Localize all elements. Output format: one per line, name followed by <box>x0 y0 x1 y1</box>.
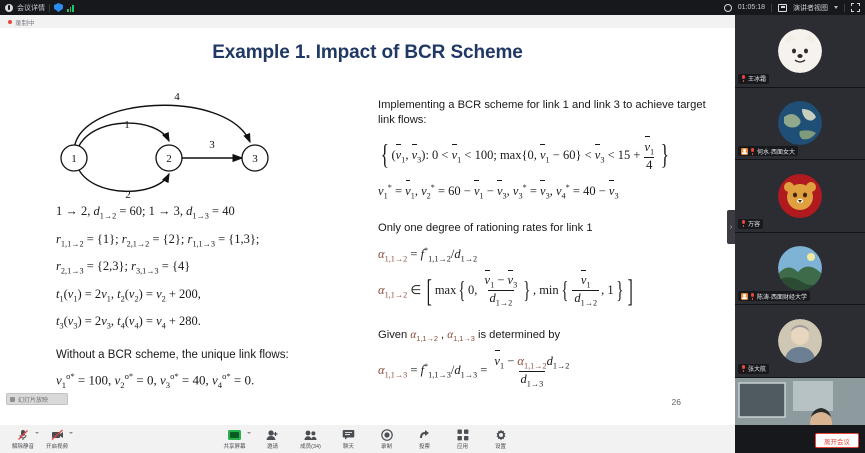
mic-muted-icon <box>741 75 746 82</box>
participant-name-bar: 陈涛·西面财经大学 <box>738 291 810 301</box>
host-icon <box>741 148 748 155</box>
network-diagram: 4 1 2 3 1 2 3 <box>52 86 342 204</box>
top-bar: 会议详情 01:05:18 演讲者视图 <box>0 0 865 15</box>
poll-icon <box>418 429 431 441</box>
participant-tile[interactable]: 何水·西面女大 <box>735 88 865 161</box>
participant-name-bar: 张大航 <box>738 364 769 374</box>
info-icon[interactable] <box>5 4 13 12</box>
landscape-avatar <box>778 246 822 290</box>
right-content-column: Implementing a BCR scheme for link 1 and… <box>378 98 723 389</box>
clock-icon <box>724 4 732 12</box>
meeting-timer: 01:05:18 <box>738 4 765 11</box>
divider <box>844 4 845 12</box>
svg-text:1: 1 <box>124 119 130 131</box>
shared-slide: Example 1. Impact of BCR Scheme 4 1 2 <box>0 28 735 425</box>
svg-text:3: 3 <box>209 139 215 151</box>
record-label: 录制 <box>381 442 392 450</box>
left-sentence: Without a BCR scheme, the unique link fl… <box>56 349 366 361</box>
shield-icon[interactable] <box>54 3 63 12</box>
participant-name-bar: 王冰霜 <box>738 74 769 84</box>
slideshow-label: 幻灯片放映 <box>18 395 48 404</box>
svg-text:2: 2 <box>125 189 131 201</box>
poll-label: 投票 <box>419 442 430 450</box>
toolbar-center-group: 共享屏幕 邀请 <box>0 429 735 450</box>
participant-tile[interactable]: 王冰霜 <box>735 15 865 88</box>
chevron-down-icon[interactable] <box>247 432 251 434</box>
poll-button[interactable]: 投票 <box>414 429 436 450</box>
participant-name-bar: 何水·西面女大 <box>738 146 798 156</box>
participant-name: 张大航 <box>748 364 766 373</box>
tiger-avatar <box>778 174 822 218</box>
chat-button[interactable]: 聊天 <box>338 429 360 450</box>
equation-cost-2: t3(v3) = 2v3, t4(v4) = v4 + 280. <box>56 314 366 331</box>
mic-muted-icon <box>741 365 746 372</box>
divider <box>49 4 50 12</box>
participant-tile[interactable]: 万容 <box>735 160 865 233</box>
view-mode-icon[interactable] <box>778 4 787 12</box>
equation-base-flows: v1o* = 100, v2o* = 0, v3o* = 40, v4o* = … <box>56 371 366 390</box>
svg-text:3: 3 <box>252 153 258 165</box>
right-sentence-1: Implementing a BCR scheme for link 1 and… <box>378 98 723 128</box>
host-icon <box>741 293 748 300</box>
view-mode-label[interactable]: 演讲者视图 <box>793 3 828 13</box>
equation-feasible-set: { (v1, v3): 0 < v1 < 100; max{0, v1 − 60… <box>378 140 723 172</box>
participants-label: 成员(34) <box>300 442 321 450</box>
bottom-toolbar: 解除静音 开启视频 共享屏幕 <box>0 425 735 453</box>
participant-name: 陈涛·西面财经大学 <box>757 292 807 301</box>
mic-muted-icon <box>741 220 746 227</box>
mic-muted-icon <box>750 293 755 300</box>
rail-collapse-button[interactable]: › <box>727 210 735 244</box>
share-screen-label: 共享屏幕 <box>223 442 245 450</box>
leave-meeting-button[interactable]: 离开会议 <box>815 433 859 448</box>
person-avatar <box>778 319 822 363</box>
participant-name: 何水·西面女大 <box>757 147 795 156</box>
zoom-meeting-window: 会议详情 01:05:18 演讲者视图 录制中 Example 1. Impac… <box>0 0 865 453</box>
participant-name-bar: 万容 <box>738 219 763 229</box>
recording-dot-icon <box>8 20 12 24</box>
meeting-details-label[interactable]: 会议详情 <box>17 3 45 13</box>
equation-demands: 1 → 2, d1→2 = 60; 1 → 3, d1→3 = 40 <box>56 204 366 221</box>
record-button[interactable]: 录制 <box>376 429 398 450</box>
equation-routes-2: r2,1→3 = {2,3}; r3,1→3 = {4} <box>56 259 366 276</box>
share-screen-button[interactable]: 共享屏幕 <box>223 429 245 450</box>
svg-text:4: 4 <box>174 91 180 103</box>
apps-label: 应用 <box>457 442 468 450</box>
slideshow-icon <box>10 397 15 402</box>
page-title: Example 1. Impact of BCR Scheme <box>0 42 735 64</box>
settings-button[interactable]: 设置 <box>490 429 512 450</box>
signal-bars-icon[interactable] <box>67 4 74 12</box>
slideshow-nav-chip[interactable]: 幻灯片放映 <box>6 393 68 405</box>
meeting-info-group[interactable]: 会议详情 <box>5 3 74 13</box>
invite-label: 邀请 <box>267 442 278 450</box>
equation-target-flows: v1* = v1, v2* = 60 − v1 − v3, v3* = v3, … <box>378 183 723 201</box>
apps-icon <box>456 429 469 441</box>
equation-alpha-range: α1,1→2 ∈ [ max{ 0, v1 − v3d1→2 } , min{ … <box>378 273 723 307</box>
divider <box>771 4 772 12</box>
recording-status-bar: 录制中 <box>0 15 735 28</box>
participant-rail: › 王冰霜 <box>735 15 865 453</box>
participants-button[interactable]: 成员(34) <box>300 429 322 450</box>
record-icon <box>380 429 393 441</box>
left-content-column: 1 → 2, d1→2 = 60; 1 → 3, d1→3 = 40 r1,1→… <box>56 204 366 400</box>
mic-muted-icon <box>750 148 755 155</box>
slide-page-number: 26 <box>672 397 681 407</box>
chevron-down-icon[interactable] <box>834 6 838 9</box>
chat-icon <box>342 429 355 441</box>
equation-cost-1: t1(v1) = 2v1, t2(v2) = v2 + 200, <box>56 287 366 304</box>
top-bar-right-group: 01:05:18 演讲者视图 <box>724 3 860 13</box>
gear-icon <box>494 429 507 441</box>
apps-button[interactable]: 应用 <box>452 429 474 450</box>
dog-avatar <box>778 29 822 73</box>
recording-label: 录制中 <box>15 17 35 27</box>
participant-name: 王冰霜 <box>748 74 766 83</box>
participant-tile[interactable]: 张大航 <box>735 305 865 378</box>
settings-label: 设置 <box>495 442 506 450</box>
screen-share-icon <box>228 429 241 441</box>
right-sentence-3: Given α1,1→2 , α1,1→3 is determined by <box>378 328 723 344</box>
svg-text:2: 2 <box>166 153 172 165</box>
participants-icon <box>304 429 317 441</box>
participant-name: 万容 <box>748 219 760 228</box>
invite-button[interactable]: 邀请 <box>262 429 284 450</box>
equation-alpha-13: α1,1→3 = f*1,1→3/d1→3 = v1 − α1,1→2d1→2 … <box>378 354 723 388</box>
invite-icon <box>266 429 279 441</box>
participant-tile[interactable]: 陈涛·西面财经大学 <box>735 233 865 306</box>
right-sentence-2: Only one degree of rationing rates for l… <box>378 221 723 236</box>
equation-routes-1: r1,1→2 = {1}; r2,1→2 = {2}; r1,1→3 = {1,… <box>56 232 366 249</box>
svg-text:1: 1 <box>71 153 77 165</box>
expand-icon[interactable] <box>851 3 860 12</box>
chat-label: 聊天 <box>343 442 354 450</box>
earth-avatar <box>778 101 822 145</box>
equation-alpha-def: α1,1→2 = f*1,1→2/d1→2 <box>378 246 723 264</box>
